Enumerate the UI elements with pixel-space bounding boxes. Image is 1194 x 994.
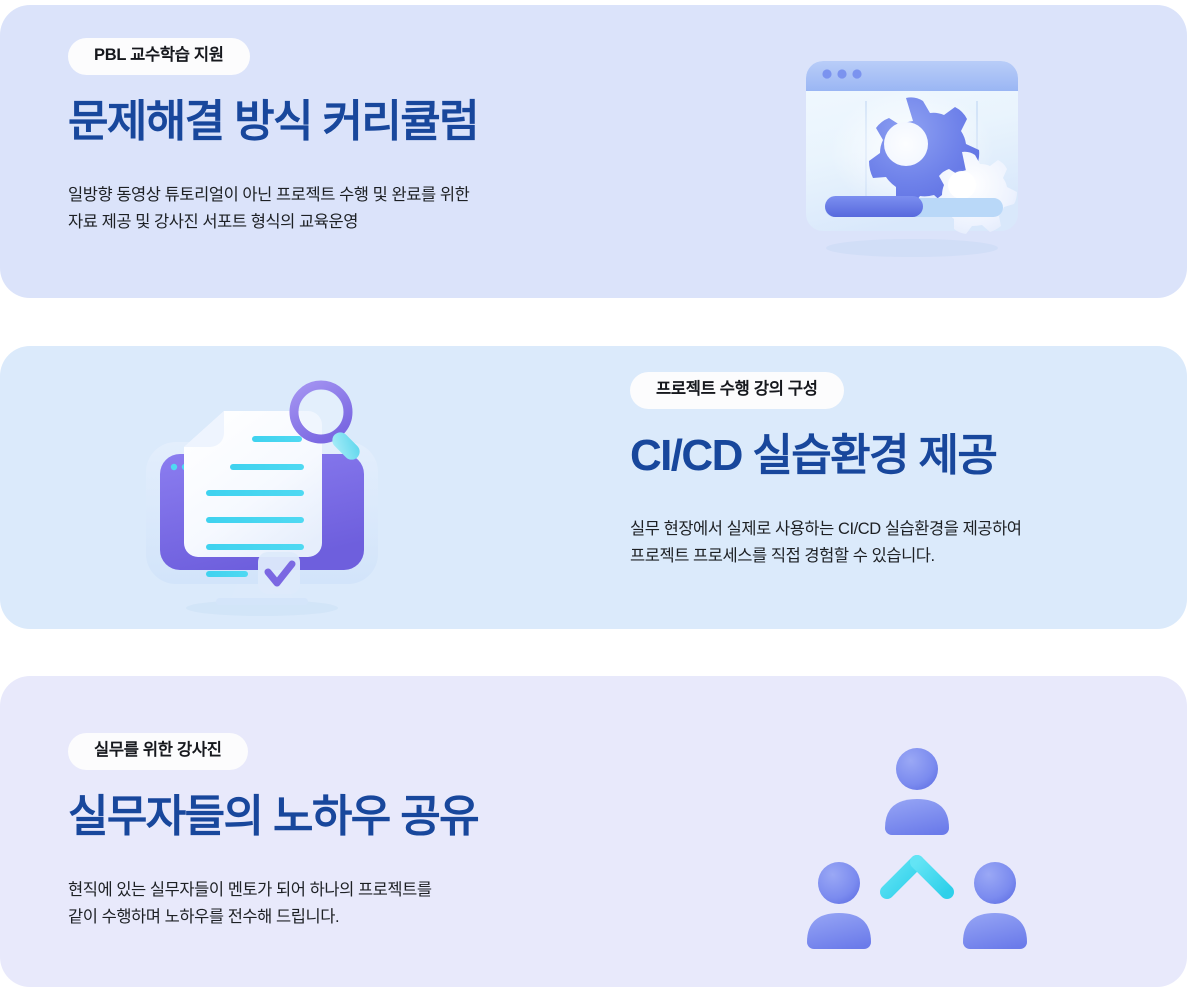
feature-card-pbl-curriculum: PBL 교수학습 지원 문제해결 방식 커리큘럼 일방향 동영상 튜토리얼이 아… bbox=[0, 5, 1187, 298]
card-headline: CI/CD 실습환경 제공 bbox=[630, 431, 1170, 480]
card-description: 실무 현장에서 실제로 사용하는 CI/CD 실습환경을 제공하여 프로젝트 프… bbox=[630, 516, 1170, 569]
card-badge-pill: 실무를 위한 강사진 bbox=[68, 733, 248, 770]
card-text-block: 실무를 위한 강사진 실무자들의 노하우 공유 현직에 있는 실무자들이 멘토가… bbox=[68, 733, 688, 947]
card-badge-pill: 프로젝트 수행 강의 구성 bbox=[630, 372, 844, 409]
card-badge-pill: PBL 교수학습 지원 bbox=[68, 38, 250, 75]
card-description: 일방향 동영상 튜토리얼이 아닌 프로젝트 수행 및 완료를 위한 자료 제공 … bbox=[68, 182, 688, 235]
document-magnifier-icon bbox=[112, 372, 412, 622]
feature-card-cicd-environment: 프로젝트 수행 강의 구성 CI/CD 실습환경 제공 실무 현장에서 실제로 … bbox=[0, 346, 1187, 629]
feature-card-mentor-knowhow: 실무를 위한 강사진 실무자들의 노하우 공유 현직에 있는 실무자들이 멘토가… bbox=[0, 676, 1187, 987]
people-network-icon bbox=[795, 740, 1055, 955]
feature-cards-page: PBL 교수학습 지원 문제해결 방식 커리큘럼 일방향 동영상 튜토리얼이 아… bbox=[0, 0, 1194, 994]
card-text-block: PBL 교수학습 지원 문제해결 방식 커리큘럼 일방향 동영상 튜토리얼이 아… bbox=[68, 38, 688, 252]
browser-window-gears-icon bbox=[780, 43, 1045, 263]
card-headline: 문제해결 방식 커리큘럼 bbox=[68, 97, 688, 146]
card-text-block: 프로젝트 수행 강의 구성 CI/CD 실습환경 제공 실무 현장에서 실제로 … bbox=[630, 372, 1170, 586]
card-description: 현직에 있는 실무자들이 멘토가 되어 하나의 프로젝트를 같이 수행하며 노하… bbox=[68, 877, 688, 930]
card-headline: 실무자들의 노하우 공유 bbox=[68, 792, 688, 841]
